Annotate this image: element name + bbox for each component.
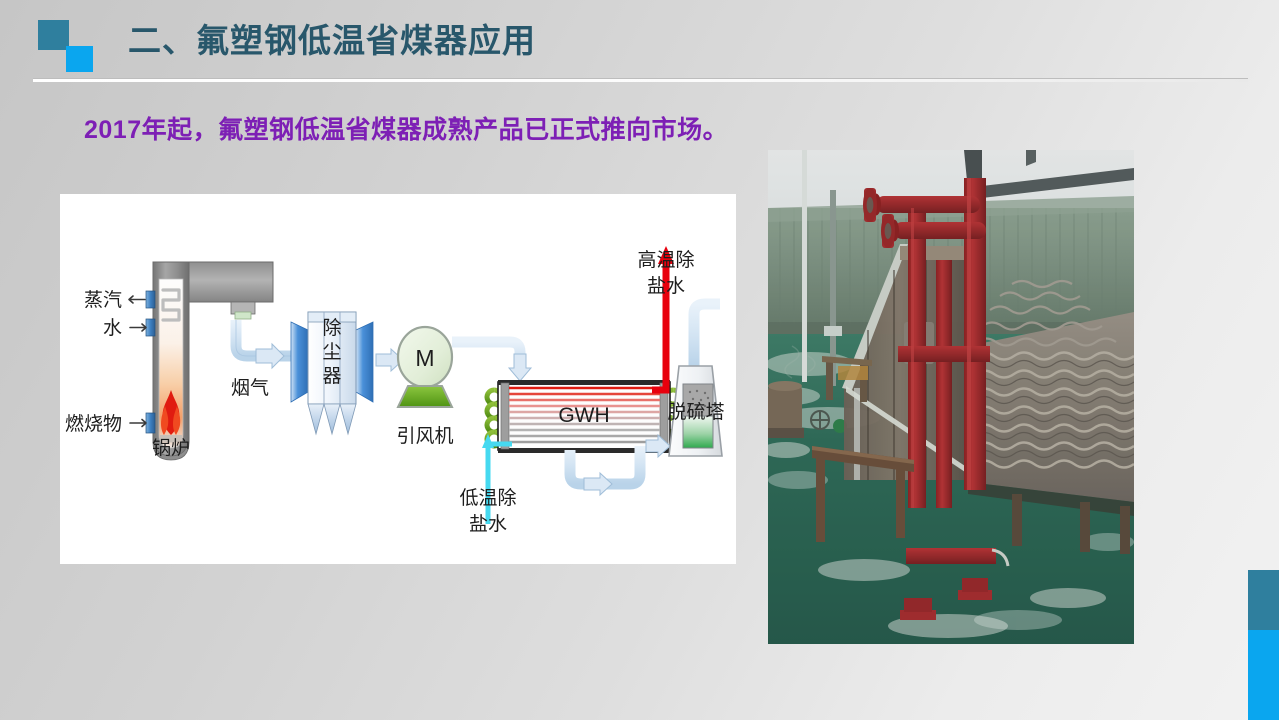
edge-accent-bottom bbox=[1248, 630, 1279, 720]
dust-collector-label-3: 器 bbox=[322, 366, 341, 387]
duct-fan-to-gwh bbox=[452, 342, 531, 381]
label-high-temp-water-2: 盐水 bbox=[647, 275, 685, 297]
boiler-io-arrows bbox=[129, 296, 146, 427]
label-desulfurization-tower: 脱硫塔 bbox=[667, 401, 724, 423]
gwh-label: GWH bbox=[558, 404, 609, 427]
label-induced-draft-fan: 引风机 bbox=[396, 425, 453, 447]
label-fuel: 燃烧物 bbox=[65, 413, 122, 435]
label-boiler: 锅炉 bbox=[152, 437, 190, 459]
induced-draft-fan-unit: M bbox=[398, 327, 452, 407]
dust-collector-unit: 除 尘 器 bbox=[291, 312, 373, 434]
dust-collector-label-2: 尘 bbox=[322, 341, 341, 363]
process-flow-diagram: 除 尘 器 M bbox=[60, 194, 736, 564]
site-photo bbox=[768, 150, 1134, 644]
edge-accent-top bbox=[1248, 570, 1279, 630]
label-flue-gas: 烟气 bbox=[231, 377, 269, 399]
flue-duct-boiler-to-collector bbox=[236, 320, 291, 368]
label-water: 水 bbox=[103, 317, 122, 339]
page-title: 二、氟塑钢低温省煤器应用 bbox=[128, 20, 536, 62]
tower-outlet-duct bbox=[694, 304, 720, 366]
subtitle-text: 2017年起，氟塑钢低温省煤器成熟产品已正式推向市场。 bbox=[84, 110, 728, 146]
fan-motor-label: M bbox=[415, 345, 434, 371]
slide-root: 二、氟塑钢低温省煤器应用 2017年起，氟塑钢低温省煤器成熟产品已正式推向市场。 bbox=[0, 0, 1279, 720]
label-low-temp-water-1: 低温除 bbox=[459, 487, 516, 509]
edge-accent-bar bbox=[1248, 570, 1279, 720]
label-low-temp-water-2: 盐水 bbox=[469, 513, 507, 535]
label-high-temp-water-1: 高温除 bbox=[637, 249, 694, 271]
decorative-square-dark bbox=[38, 20, 69, 50]
label-steam: 蒸汽 bbox=[84, 289, 122, 311]
dust-collector-label-1: 除 bbox=[322, 317, 341, 339]
decorative-squares bbox=[38, 20, 108, 72]
title-divider bbox=[33, 78, 1248, 82]
decorative-square-light bbox=[66, 46, 93, 72]
